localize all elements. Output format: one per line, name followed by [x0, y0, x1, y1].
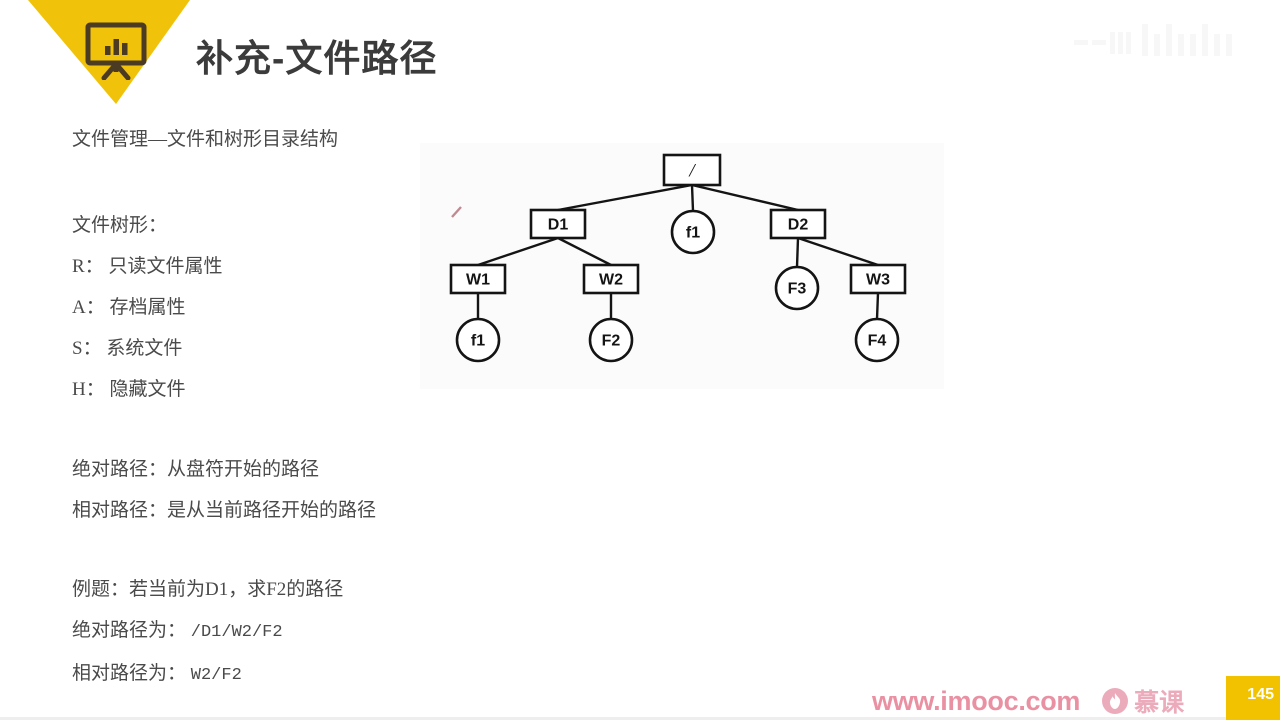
tree-node-w2: W2	[584, 265, 638, 293]
node-label: f1	[686, 225, 700, 242]
tree-edge	[558, 185, 692, 210]
tree-edge	[478, 238, 558, 265]
node-label: F2	[602, 333, 621, 350]
example-relative-value: W2/F2	[191, 666, 242, 685]
imooc-brand: 慕课	[1102, 683, 1184, 719]
imooc-url: www.imooc.com	[872, 686, 1080, 717]
attribute-key-s: S：	[72, 328, 102, 369]
footer-watermark: www.imooc.com 慕课	[872, 684, 1184, 718]
tree-node-d1: D1	[531, 210, 585, 238]
file-attributes-block: 文件树形： R： 只读文件属性 A： 存档属性 S： 系统文件 H： 隐藏文件	[72, 205, 222, 410]
slide: 补充-文件路径 文件管理—文件和树形目录结构 文件树形： R： 只读文件属性	[0, 0, 1280, 720]
file-tree-svg: /D1f1D2W1W2F3W3f1F2F4	[420, 143, 944, 389]
attribute-label-s: 系统文件	[106, 338, 182, 359]
node-label: W3	[866, 272, 890, 289]
node-label: W2	[599, 272, 623, 289]
tree-node-w3: W3	[851, 265, 905, 293]
tree-heading: 文件树形：	[72, 205, 222, 246]
example-block: 例题：若当前为D1，求F2的路径 绝对路径为： /D1/W2/F2 相对路径为：…	[72, 569, 343, 696]
page-title: 补充-文件路径	[196, 28, 437, 82]
tree-node-w1: W1	[451, 265, 505, 293]
tree-edge	[798, 238, 878, 265]
tree-edge	[558, 238, 611, 265]
tree-node-d2: D2	[771, 210, 825, 238]
tree-edge	[692, 185, 693, 211]
presentation-board-icon	[85, 22, 147, 80]
tree-node-f1b: f1	[457, 319, 499, 361]
tree-node-f4: F4	[856, 319, 898, 361]
tree-edge	[692, 185, 798, 210]
attribute-key-a: A：	[72, 287, 105, 328]
tree-edge	[797, 238, 798, 267]
attribute-label-r: 只读文件属性	[108, 256, 222, 277]
node-label: F3	[788, 281, 807, 298]
tree-node-root: /	[664, 155, 720, 185]
attribute-row-a: A： 存档属性	[72, 287, 222, 328]
attribute-row-r: R： 只读文件属性	[72, 246, 222, 287]
example-absolute-row: 绝对路径为： /D1/W2/F2	[72, 610, 343, 653]
imooc-brand-text: 慕课	[1134, 683, 1184, 719]
lead-line: 文件管理—文件和树形目录结构	[72, 124, 338, 151]
node-label: D1	[548, 217, 569, 234]
path-definitions-block: 绝对路径：从盘符开始的路径 相对路径：是从当前路径开始的路径	[72, 449, 376, 531]
attribute-label-h: 隐藏文件	[109, 379, 185, 400]
tree-node-f2: F2	[590, 319, 632, 361]
example-absolute-value: /D1/W2/F2	[191, 623, 283, 642]
pencil-artifact-icon	[450, 205, 464, 219]
bilibili-watermark	[1066, 18, 1266, 70]
attribute-row-h: H： 隐藏文件	[72, 369, 222, 410]
node-label: W1	[466, 272, 490, 289]
attribute-label-a: 存档属性	[109, 297, 185, 318]
node-label: F4	[868, 333, 887, 350]
relative-path-definition: 相对路径：是从当前路径开始的路径	[72, 490, 376, 531]
attribute-row-s: S： 系统文件	[72, 328, 222, 369]
example-absolute-label: 绝对路径为：	[72, 620, 186, 641]
tree-edge	[877, 293, 878, 319]
file-tree-diagram: /D1f1D2W1W2F3W3f1F2F4	[420, 143, 944, 389]
attribute-key-r: R：	[72, 246, 104, 287]
example-relative-row: 相对路径为： W2/F2	[72, 653, 343, 696]
node-label: D2	[788, 217, 809, 234]
attribute-key-h: H：	[72, 369, 105, 410]
tree-node-f1a: f1	[672, 211, 714, 253]
example-question: 例题：若当前为D1，求F2的路径	[72, 569, 343, 610]
node-label: f1	[471, 333, 485, 350]
page-number: 145	[1247, 686, 1274, 704]
tree-node-f3: F3	[776, 267, 818, 309]
flame-icon	[1102, 688, 1128, 714]
absolute-path-definition: 绝对路径：从盘符开始的路径	[72, 449, 376, 490]
example-relative-label: 相对路径为：	[72, 663, 186, 684]
